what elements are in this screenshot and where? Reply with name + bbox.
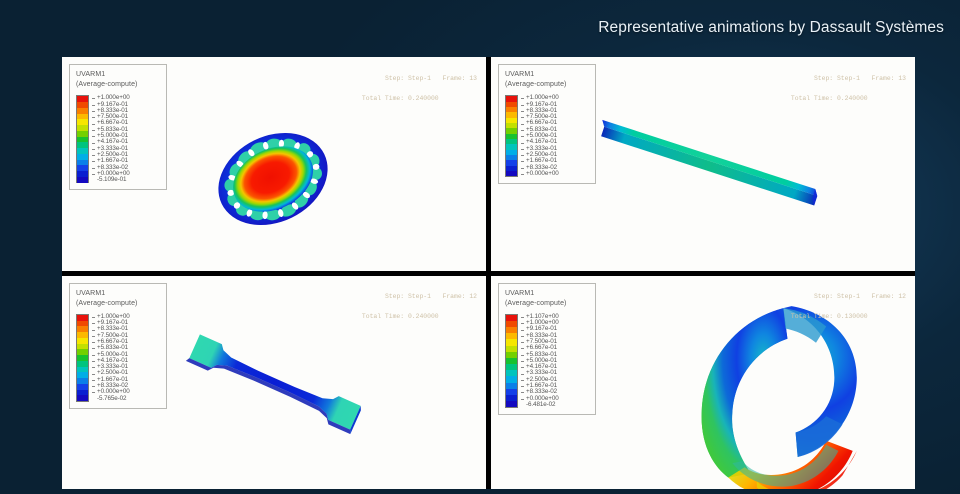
legend-subtitle: (Average-compute) <box>505 299 591 309</box>
status-frame: Frame: 13 <box>442 75 477 82</box>
legend-variable: UVARM1 <box>76 289 162 299</box>
status-text: Step: Step-1 Frame: 13 Total Time: 0.240… <box>791 64 906 124</box>
contour-legend: UVARM1 (Average-compute) +1.107e+00 +1.0… <box>498 283 596 416</box>
legend-variable: UVARM1 <box>505 289 591 299</box>
status-time: Total Time: 0.130000 <box>791 312 906 322</box>
legend-min-value: -5.765e-02 <box>92 396 130 402</box>
legend-labels: +1.000e+00 +9.167e-01 +8.333e-01 +7.500e… <box>521 95 559 177</box>
legend-variable: UVARM1 <box>76 70 162 80</box>
viewport-panel-bottom-left[interactable]: UVARM1 (Average-compute) +1.000e+00 +9.1… <box>62 276 486 490</box>
contour-legend: UVARM1 (Average-compute) +1.000e+00 +9.1… <box>69 283 167 409</box>
legend-labels: +1.000e+00 +9.167e-01 +8.333e-01 +7.500e… <box>92 314 130 402</box>
status-frame: Frame: 13 <box>871 75 906 82</box>
status-frame: Frame: 12 <box>871 293 906 300</box>
page-title: Representative animations by Dassault Sy… <box>598 19 944 37</box>
legend-subtitle: (Average-compute) <box>76 80 162 90</box>
status-text: Step: Step-1 Frame: 12 Total Time: 0.130… <box>791 283 906 343</box>
status-time: Total Time: 0.240000 <box>362 312 477 322</box>
legend-colorbar <box>505 314 518 408</box>
legend-colorbar <box>76 314 89 402</box>
viewport-panel-top-left[interactable]: UVARM1 (Average-compute) +1.000e+00 +9.1… <box>62 57 486 271</box>
status-frame: Frame: 12 <box>442 293 477 300</box>
status-text: Step: Step-1 Frame: 12 Total Time: 0.240… <box>362 283 477 343</box>
legend-subtitle: (Average-compute) <box>505 80 591 90</box>
viewport-grid: UVARM1 (Average-compute) +1.000e+00 +9.1… <box>62 57 915 489</box>
viewport-panel-top-right[interactable]: UVARM1 (Average-compute) +1.000e+00 +9.1… <box>491 57 915 271</box>
contour-legend: UVARM1 (Average-compute) +1.000e+00 +9.1… <box>498 64 596 184</box>
status-time: Total Time: 0.240000 <box>362 94 477 104</box>
legend-min-value: -5.109e-01 <box>92 177 130 183</box>
status-step: Step: Step-1 <box>385 293 431 300</box>
legend-labels: +1.000e+00 +9.167e-01 +8.333e-01 +7.500e… <box>92 95 130 183</box>
legend-colorbar <box>505 95 518 177</box>
legend-tick: +0.000e+00 <box>521 171 559 177</box>
contour-legend: UVARM1 (Average-compute) +1.000e+00 +9.1… <box>69 64 167 190</box>
legend-subtitle: (Average-compute) <box>76 299 162 309</box>
status-step: Step: Step-1 <box>385 75 431 82</box>
status-step: Step: Step-1 <box>814 75 860 82</box>
status-text: Step: Step-1 Frame: 13 Total Time: 0.240… <box>362 64 477 124</box>
status-step: Step: Step-1 <box>814 293 860 300</box>
legend-variable: UVARM1 <box>505 70 591 80</box>
legend-colorbar <box>76 95 89 183</box>
legend-min-value: -6.481e-02 <box>521 402 559 408</box>
status-time: Total Time: 0.240000 <box>791 94 906 104</box>
viewport-panel-bottom-right[interactable]: UVARM1 (Average-compute) +1.107e+00 +1.0… <box>491 276 915 490</box>
legend-labels: +1.107e+00 +1.000e+00 +9.167e-01 +8.333e… <box>521 314 559 408</box>
